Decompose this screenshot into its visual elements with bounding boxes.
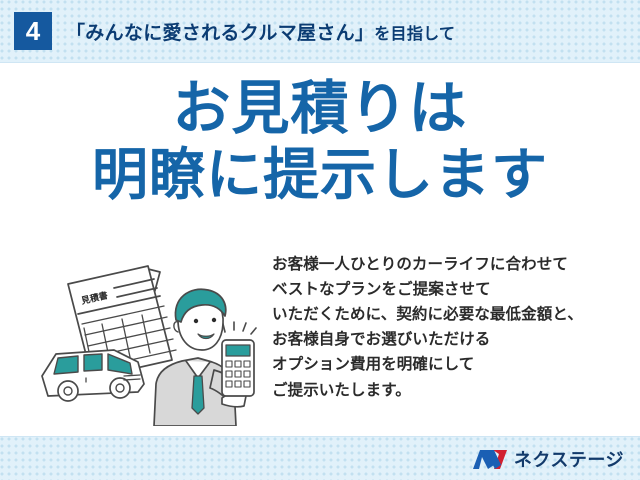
header: 4 「みんなに愛されるクルマ屋さん」を目指して (0, 0, 640, 62)
brand-logo: ネクステージ (473, 448, 624, 471)
step-number-badge: 4 (14, 12, 52, 50)
headline-line-2: 明瞭に提示します (0, 145, 640, 204)
body-line: お客様自身でお選びいただける (272, 327, 632, 352)
body-line: いただくために、契約に必要な最低金額と、 (272, 302, 632, 327)
advertisement-slide: 4 「みんなに愛されるクルマ屋さん」を目指して お見積りは 明瞭に提示します お… (0, 0, 640, 480)
header-title-main: 「みんなに愛されるクルマ屋さん」 (66, 23, 374, 44)
van-icon (42, 350, 144, 401)
brand-name: ネクステージ (514, 451, 624, 469)
body-line: オプション費用を明確にして (272, 352, 632, 377)
header-title: 「みんなに愛されるクルマ屋さん」を目指して (66, 18, 455, 45)
calculator-icon (222, 322, 256, 396)
headline-line-1: お見積りは (0, 78, 640, 139)
body-line: ベストなプランをご提案させて (272, 277, 632, 302)
headline: お見積りは 明瞭に提示します (0, 78, 640, 205)
body-copy: お客様一人ひとりのカーライフに合わせて ベストなプランをご提案させて いただくた… (272, 252, 632, 403)
nextage-n-mark-icon (473, 448, 507, 471)
illustration: 見積書 (26, 258, 266, 426)
body-line: ご提示いたします。 (272, 378, 632, 403)
body-line: お客様一人ひとりのカーライフに合わせて (272, 252, 632, 277)
header-title-tail: を目指して (374, 26, 455, 43)
